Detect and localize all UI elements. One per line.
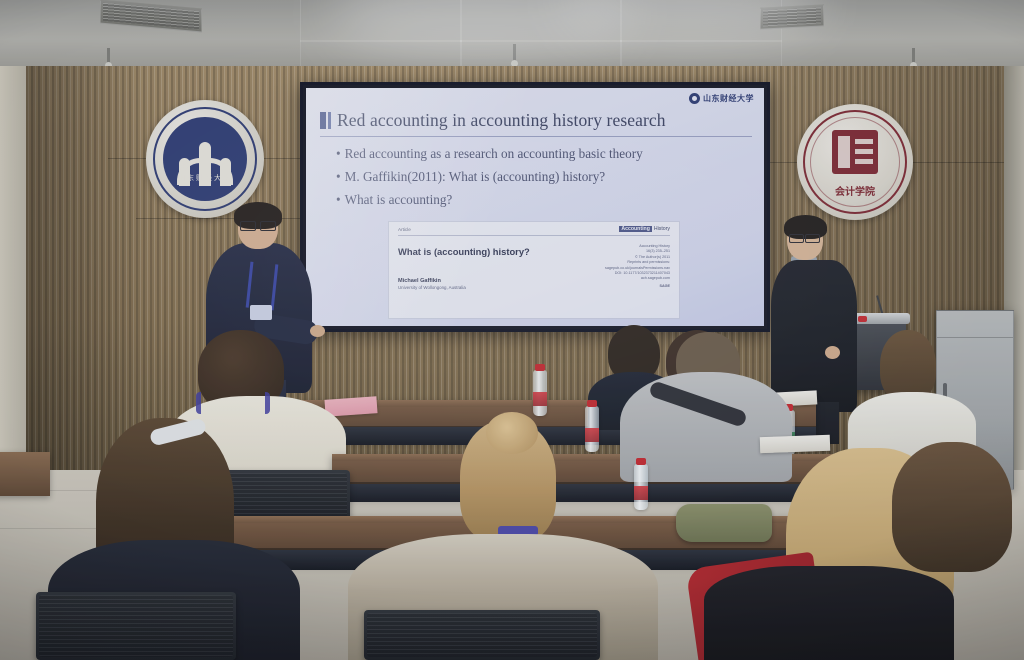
- bullet-dot-icon: •: [336, 192, 341, 208]
- lecture-hall-photo: 山东财经大学 会计学院 山东财经大学 Red accounting in acc…: [0, 0, 1024, 660]
- school-of-accountancy-emblem-icon: 会计学院: [797, 104, 913, 220]
- audience-torso: [704, 566, 954, 660]
- chair: [364, 610, 600, 660]
- slide-title-row: Red accounting in accounting history res…: [320, 110, 750, 131]
- article-header: Article Accounting History: [398, 226, 670, 232]
- slide-title: Red accounting in accounting history res…: [337, 110, 666, 131]
- audience-hair-bun: [486, 412, 538, 454]
- journal-badge: Accounting: [619, 226, 652, 232]
- ceiling-sprinkler: [107, 48, 110, 64]
- journal-name: History: [654, 226, 670, 232]
- bottle-cap: [636, 458, 646, 465]
- olive-green-bag: [676, 504, 772, 542]
- bottle-label: [634, 486, 648, 500]
- bullet-dot-icon: •: [336, 169, 341, 185]
- presenter-left-glasses-icon: [240, 221, 276, 229]
- article-citation-block: Accounting History 16(3) 235–251 © The A…: [588, 244, 670, 289]
- cabinet-seam: [937, 337, 1013, 338]
- emblem-disc: 山东财经大学: [163, 117, 247, 201]
- slide-bullet: •M. Gaffikin(2011): What is (accounting)…: [336, 169, 748, 185]
- bottle-cap: [587, 400, 597, 407]
- desk-top: [332, 454, 892, 461]
- bullet-text: M. Gaffikin(2011): What is (accounting) …: [345, 169, 606, 184]
- slide-title-rule: [320, 136, 752, 137]
- chair-mesh: [367, 613, 597, 657]
- slide-university-logo: 山东财经大学: [689, 93, 754, 104]
- article-kicker: Article: [398, 227, 411, 232]
- journal-masthead: Accounting History: [619, 226, 670, 232]
- side-table: [0, 452, 50, 496]
- article-publisher: SAGE: [588, 284, 670, 289]
- bullet-text: What is accounting?: [345, 192, 453, 207]
- presenter-right-hand: [825, 346, 840, 359]
- ceiling-air-vent: [100, 0, 202, 32]
- slide-surface: 山东财经大学 Red accounting in accounting hist…: [306, 88, 764, 326]
- slide-bullet: •What is accounting?: [336, 192, 748, 208]
- water-bottle: [585, 406, 599, 452]
- presenter-left-badge: [250, 305, 272, 320]
- chair: [36, 592, 236, 660]
- bullet-dot-icon: •: [336, 146, 341, 162]
- slide-bullet-list: •Red accounting as a research on account…: [336, 146, 748, 215]
- wall-left-column: [0, 66, 26, 486]
- title-marker-icon: [320, 112, 331, 129]
- article-rule: [398, 235, 670, 236]
- audience-lanyard: [196, 392, 270, 414]
- bottle-cap: [535, 364, 545, 371]
- slide-bullet: •Red accounting as a research on account…: [336, 146, 748, 162]
- ceiling-sprinkler: [912, 48, 915, 64]
- slide-logo-text: 山东财经大学: [703, 93, 754, 104]
- presenter-left-hand: [310, 325, 325, 337]
- article-screenshot: Article Accounting History What is (acco…: [388, 221, 680, 319]
- audience-head: [892, 442, 1012, 572]
- shandong-university-emblem-icon: 山东财经大学: [146, 100, 264, 218]
- bullet-text: Red accounting as a research on accounti…: [345, 146, 643, 161]
- university-mark-icon: [689, 93, 700, 104]
- article-affiliation: University of Wollongong, Australia: [398, 285, 466, 290]
- projection-screen: 山东财经大学 Red accounting in accounting hist…: [300, 82, 770, 332]
- water-bottle: [634, 464, 648, 510]
- emblem-seal-glyph: [832, 130, 878, 174]
- citation-line: ach.sagepub.com: [588, 276, 670, 281]
- stack-of-papers: [760, 435, 831, 453]
- article-author: Michael Gaffikin: [398, 278, 441, 284]
- chair-mesh: [39, 595, 233, 657]
- bottle-label: [585, 428, 599, 442]
- presenter-right-torso: [771, 260, 857, 412]
- emblem-chinese-text: 山东财经大学: [163, 173, 247, 183]
- article-title: What is (accounting) history?: [398, 246, 530, 257]
- ceiling: [0, 0, 1024, 72]
- emblem-chinese-text: 会计学院: [797, 183, 913, 198]
- presenter-left-lanyard: [246, 262, 279, 311]
- water-bottle: [533, 370, 547, 416]
- bottle-label: [533, 392, 547, 406]
